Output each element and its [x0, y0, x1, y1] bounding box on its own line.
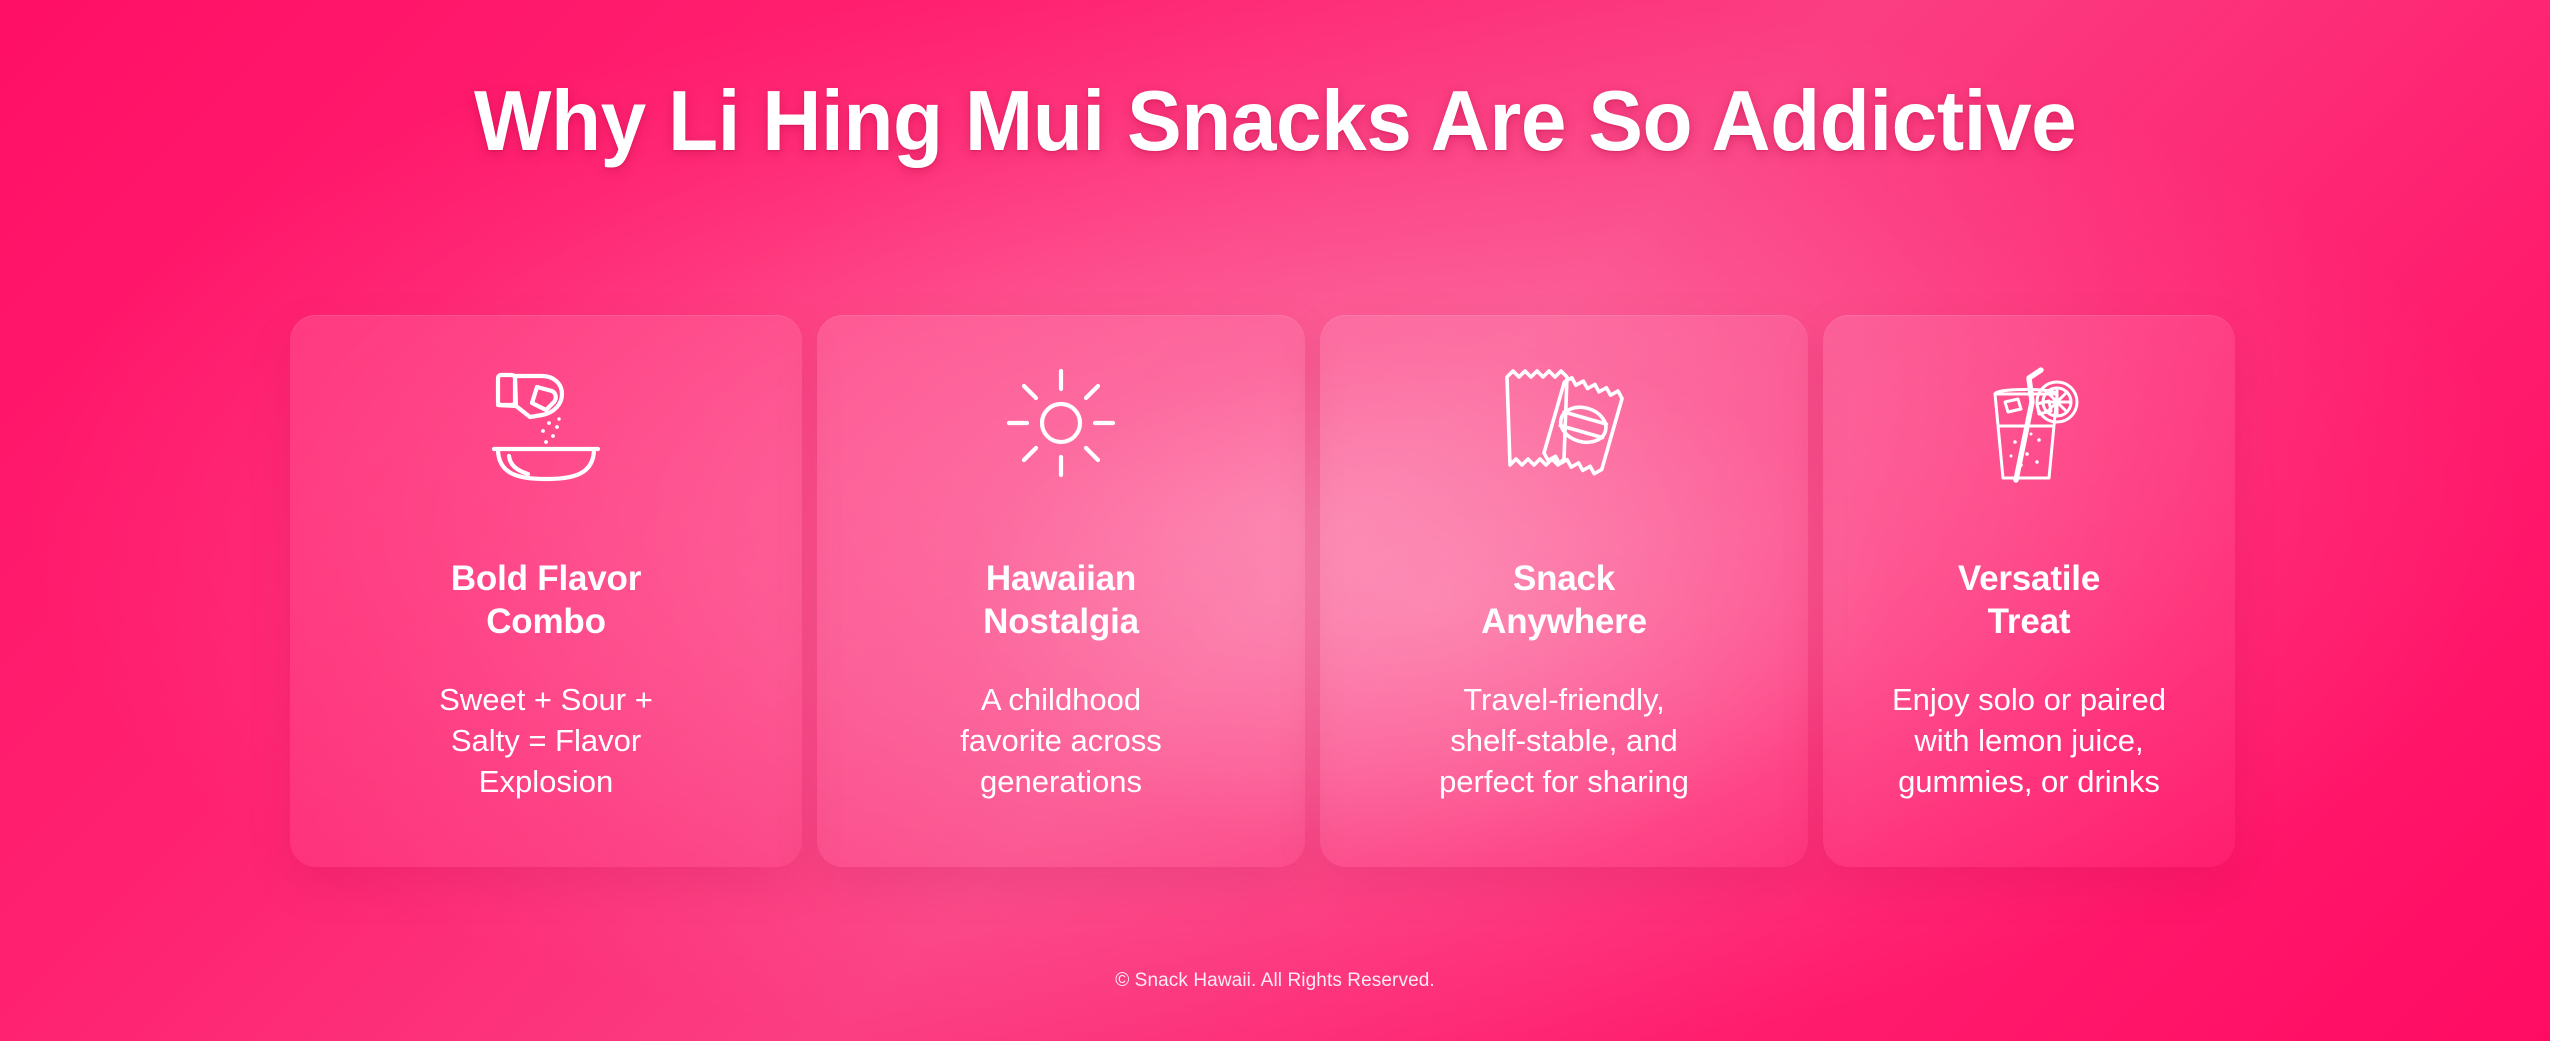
card-title: Bold Flavor Combo [437, 557, 655, 644]
card-title: Hawaiian Nostalgia [969, 557, 1153, 644]
card-title: Snack Anywhere [1467, 557, 1661, 644]
copyright-text: © Snack Hawaii. All Rights Reserved. [1115, 970, 1435, 991]
feature-card-bold-flavor-combo[interactable]: Bold Flavor Combo Sweet + Sour + Salty =… [290, 315, 802, 867]
card-description: Sweet + Sour + Salty = Flavor Explosion [331, 680, 761, 803]
sun-icon [1002, 367, 1120, 479]
card-description: Enjoy solo or paired with lemon juice, g… [1819, 680, 2239, 803]
feature-card-hawaiian-nostalgia[interactable]: Hawaiian Nostalgia A childhood favorite … [817, 315, 1305, 867]
landing-page: Why Li Hing Mui Snacks Are So Addictive [0, 0, 2550, 1041]
feature-card-versatile-treat[interactable]: Versatile Treat Enjoy solo or paired wit… [1823, 315, 2235, 867]
card-description: A childhood favorite across generations [846, 680, 1276, 803]
feature-card-grid: Bold Flavor Combo Sweet + Sour + Salty =… [290, 315, 2235, 867]
drink-glass-icon [1969, 367, 2089, 479]
page-title: Why Li Hing Mui Snacks Are So Addictive [474, 78, 2076, 166]
snack-packets-icon [1495, 367, 1633, 479]
salt-shaker-bowl-icon [480, 367, 612, 479]
page-header: Why Li Hing Mui Snacks Are So Addictive [0, 78, 2550, 190]
feature-card-snack-anywhere[interactable]: Snack Anywhere Travel-friendly, shelf-st… [1320, 315, 1808, 867]
card-title: Versatile Treat [1944, 557, 2114, 644]
page-footer: © Snack Hawaii. All Rights Reserved. [0, 970, 2550, 992]
card-description: Travel-friendly, shelf-stable, and perfe… [1349, 680, 1779, 803]
